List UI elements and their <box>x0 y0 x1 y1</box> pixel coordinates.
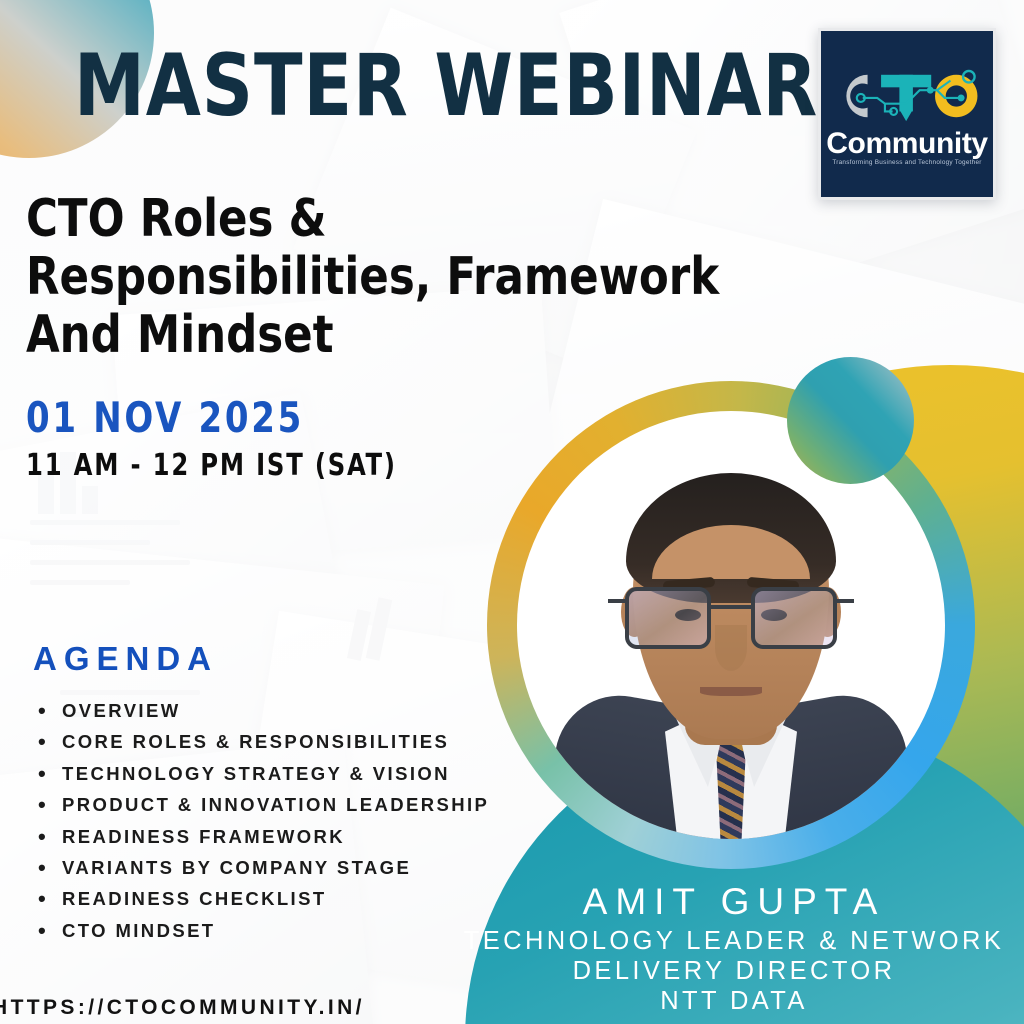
event-time: 11 AM - 12 PM IST (SAT) <box>26 448 397 483</box>
speaker-company: NTT DATA <box>444 986 1024 1017</box>
list-item: READINESS CHECKLIST <box>36 888 489 910</box>
page-title: MASTER WEBINAR <box>74 44 818 128</box>
agenda-heading: AGENDA <box>33 640 218 678</box>
website-url[interactable]: HTTPS://CTOCOMMUNITY.IN/ <box>0 996 365 1020</box>
webinar-subtitle: CTO Roles & Responsibilities, Framework … <box>26 190 733 365</box>
list-item: CTO MINDSET <box>36 920 489 942</box>
list-item: READINESS FRAMEWORK <box>36 826 489 848</box>
event-date: 01 NOV 2025 <box>26 393 304 442</box>
logo-tagline: Transforming Business and Technology Tog… <box>821 159 993 166</box>
list-item: TECHNOLOGY STRATEGY & VISION <box>36 763 489 785</box>
list-item: CORE ROLES & RESPONSIBILITIES <box>36 731 489 753</box>
cto-logo-mark-icon <box>821 69 993 123</box>
speaker-info: AMIT GUPTA TECHNOLOGY LEADER & NETWORK D… <box>444 880 1024 1017</box>
list-item: OVERVIEW <box>36 700 489 722</box>
eyeglasses-icon <box>625 587 837 653</box>
list-item: VARIANTS BY COMPANY STAGE <box>36 857 489 879</box>
speaker-role: TECHNOLOGY LEADER & NETWORK DELIVERY DIR… <box>444 926 1024 986</box>
speaker-name: AMIT GUPTA <box>444 880 1024 924</box>
accent-gradient-circle <box>787 357 914 484</box>
list-item: PRODUCT & INNOVATION LEADERSHIP <box>36 794 489 816</box>
agenda-list: OVERVIEW CORE ROLES & RESPONSIBILITIES T… <box>36 700 489 951</box>
cto-community-logo: Community Transforming Business and Tech… <box>818 28 996 200</box>
webinar-poster: MASTER WEBINAR CTO Roles & Responsibilit… <box>0 0 1024 1024</box>
logo-wordmark: Community <box>821 127 993 161</box>
